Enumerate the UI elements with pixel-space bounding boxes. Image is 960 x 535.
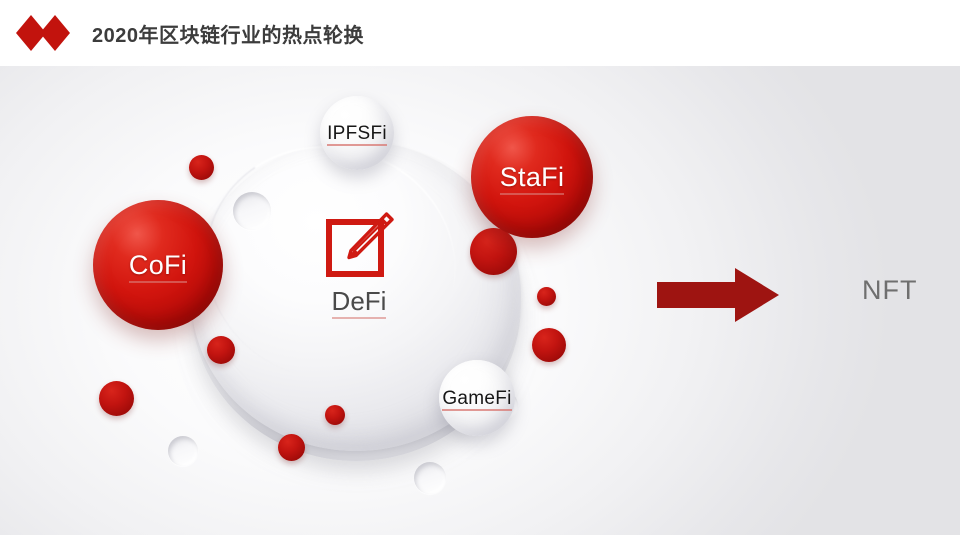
node-gamefi[interactable]: GameFi <box>439 360 515 436</box>
node-stafi-label: StaFi <box>500 164 565 191</box>
accent-dot <box>325 405 345 425</box>
slide-header: 2020年区块链行业的热点轮换 <box>0 0 960 66</box>
accent-dot <box>189 155 214 180</box>
node-stafi[interactable]: StaFi <box>471 116 593 238</box>
disc-dimple <box>233 192 271 230</box>
accent-dot <box>537 287 556 306</box>
double-diamond-icon <box>14 13 76 53</box>
node-ipfsfi-label: IPFSFi <box>327 124 387 143</box>
disc-dimple <box>168 436 198 466</box>
right-arrow-icon <box>657 268 779 322</box>
node-defi-label: DeFi <box>332 288 387 314</box>
node-ipfsfi[interactable]: IPFSFi <box>320 96 394 170</box>
node-cofi[interactable]: CoFi <box>93 200 223 330</box>
accent-dot <box>278 434 305 461</box>
accent-dot <box>532 328 566 362</box>
accent-dot <box>470 228 517 275</box>
accent-dot <box>99 381 134 416</box>
page-title: 2020年区块链行业的热点轮换 <box>92 19 364 48</box>
node-gamefi-label: GameFi <box>442 389 511 408</box>
node-defi[interactable]: DeFi <box>300 210 418 315</box>
nft-label: NFT <box>862 275 917 306</box>
accent-dot <box>207 336 235 364</box>
pencil-square-icon <box>323 210 395 282</box>
disc-dimple <box>414 462 446 494</box>
slide-canvas: 2020年区块链行业的热点轮换 CoFi StaFi IPFSFi GameFi <box>0 0 960 535</box>
node-cofi-label: CoFi <box>129 252 187 279</box>
